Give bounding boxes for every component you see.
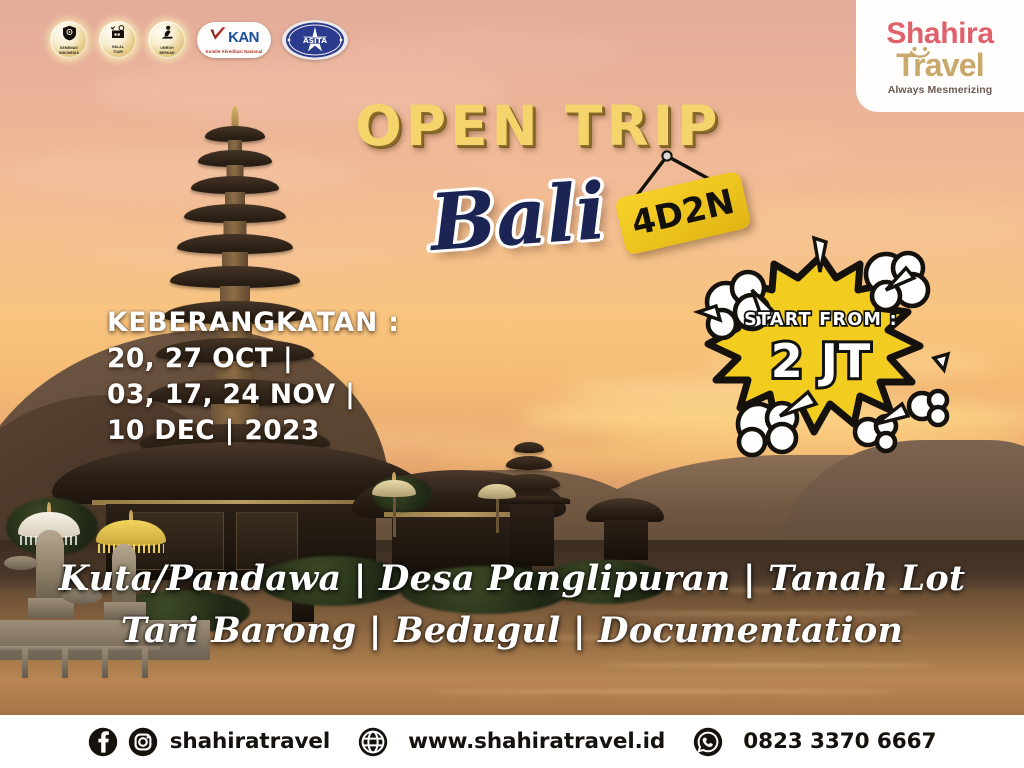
svg-text:ASITA: ASITA <box>303 36 327 45</box>
shield-icon <box>62 25 77 46</box>
parasol-small <box>372 480 416 540</box>
social-handle[interactable]: shahiratravel <box>170 729 330 754</box>
umroh-badge: UMROH BERKAH <box>148 21 186 59</box>
kaaba-icon <box>109 25 127 45</box>
comic-burst-icon <box>690 228 952 460</box>
phone-number[interactable]: 0823 3370 6667 <box>743 729 936 754</box>
speed-streak <box>934 354 948 370</box>
parasol-canopy <box>372 480 416 497</box>
website-url[interactable]: www.shahiratravel.id <box>408 729 665 754</box>
departure-date-line: 10 DEC | 2023 <box>107 413 400 449</box>
mini-tower-tier <box>506 456 552 470</box>
destination-title: Bali <box>427 166 609 269</box>
whatsapp-icon[interactable] <box>693 727 723 757</box>
departure-label: KEBERANGKATAN : <box>107 305 400 341</box>
departure-date-line: 03, 17, 24 NOV | <box>107 377 400 413</box>
badge-line2: INDONESIA <box>59 52 79 56</box>
instagram-icon[interactable] <box>128 727 158 757</box>
badge-line1: UMROH <box>160 47 173 51</box>
departure-dates-block: KEBERANGKATAN : 20, 27 OCT | 03, 17, 24 … <box>107 305 400 449</box>
cloud-band <box>330 30 630 74</box>
badge-line2: TOUR <box>113 51 123 55</box>
itinerary-line-1: Kuta/Pandawa | Desa Panglipuran | Tanah … <box>59 553 965 605</box>
parasol-small <box>478 484 516 536</box>
badge-line1: KEMENAG <box>60 47 78 51</box>
kemenag-badge: KEMENAG INDONESIA <box>50 21 88 59</box>
parasol-canopy <box>478 484 516 499</box>
asita-emblem-icon: ASITA <box>284 21 346 59</box>
departure-date-line: 20, 27 OCT | <box>107 341 400 377</box>
website-group[interactable]: www.shahiratravel.id <box>358 727 665 757</box>
price-burst-badge: START FROM : 2 JT <box>690 228 952 460</box>
itinerary-line-2: Tari Barong | Bedugul | Documentation <box>121 605 903 657</box>
praying-person-icon <box>159 25 175 46</box>
checkmark-icon <box>209 26 227 48</box>
social-group[interactable]: shahiratravel <box>88 727 330 757</box>
pagoda-tier <box>170 266 300 288</box>
mini-tower-tier <box>514 442 544 453</box>
puff-cloud <box>909 391 947 425</box>
asita-badge: ASITA <box>282 20 348 60</box>
halal-badge: HALAL TOUR <box>99 21 137 59</box>
parasol-canopy <box>96 520 166 546</box>
brand-name-shahira: Shahira <box>886 20 993 47</box>
kan-wordmark: KAN <box>228 29 259 46</box>
brand-name-travel-row: Travel <box>896 47 984 79</box>
poster-canvas: KEMENAG INDONESIA HALAL TOUR <box>0 0 1024 768</box>
kan-subtitle: Komite Akreditasi Nasional <box>206 49 263 54</box>
facebook-icon[interactable] <box>88 727 118 757</box>
badge-line2: BERKAH <box>159 52 174 56</box>
brand-tagline: Always Mesmerizing <box>888 84 993 96</box>
parasol-pole <box>393 497 396 537</box>
kan-badge: KAN Komite Akreditasi Nasional <box>197 22 271 58</box>
parasol-pole <box>496 499 499 533</box>
water-ripple <box>430 690 900 693</box>
certification-badges: KEMENAG INDONESIA HALAL TOUR <box>50 20 348 60</box>
globe-icon[interactable] <box>358 727 388 757</box>
itinerary-block: Kuta/Pandawa | Desa Panglipuran | Tanah … <box>0 545 1024 665</box>
pagoda-tier <box>177 234 293 254</box>
brand-logo-panel: Shahira Travel Always Mesmerizing <box>856 0 1024 112</box>
contact-footer: shahiratravel www.shahiratravel.id <box>0 715 1024 768</box>
smiley-face-icon <box>909 46 931 60</box>
whatsapp-group[interactable]: 0823 3370 6667 <box>693 727 936 757</box>
